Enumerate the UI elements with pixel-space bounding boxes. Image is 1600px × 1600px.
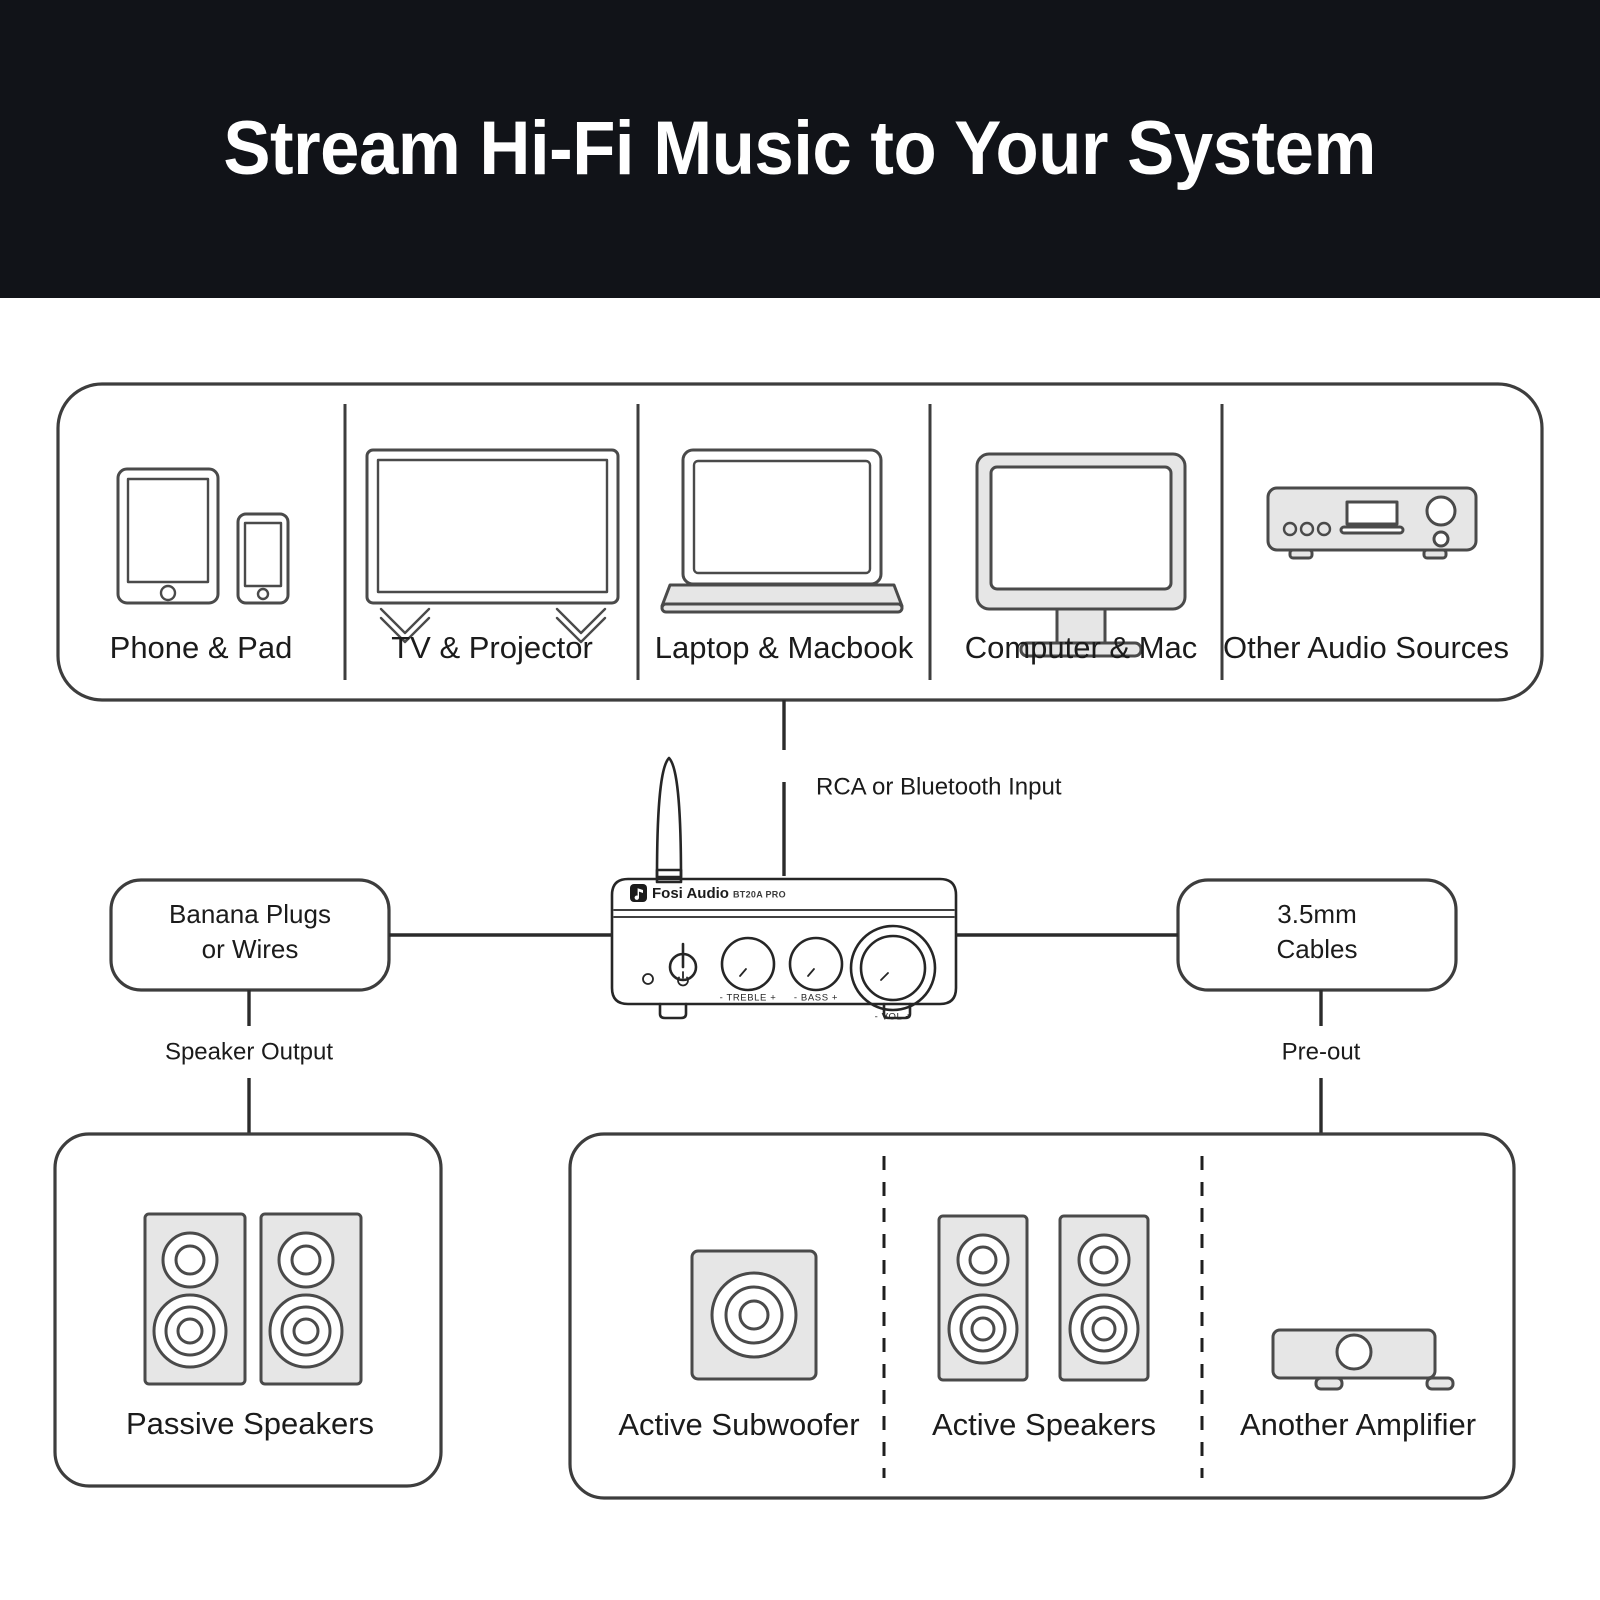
pre-out-label: Pre-out [1282, 1038, 1361, 1065]
signal-flow-diagram: Phone & Pad TV & Projector [0, 298, 1600, 1600]
source-cell-active-speakers[interactable]: Active Speakers [932, 1216, 1156, 1442]
infographic-page: Stream Hi-Fi Music to Your System [0, 0, 1600, 1600]
television-icon [367, 450, 618, 642]
amplifier-model-text: BT20A PRO [733, 889, 786, 899]
power-button-icon[interactable] [670, 944, 696, 985]
amplifier-box-icon [1273, 1330, 1453, 1389]
header-band: Stream Hi-Fi Music to Your System [0, 0, 1600, 298]
audio-sources-panel: Phone & Pad TV & Projector [58, 384, 1542, 700]
source-cell-laptop[interactable]: Laptop & Macbook [655, 450, 914, 665]
active-devices-panel: Active Subwoofer [570, 1134, 1514, 1498]
tablet-and-phone-icon [118, 469, 288, 603]
cd-player-icon [1268, 488, 1476, 558]
cables-box-line2: Cables [1277, 934, 1358, 964]
source-cell-passive-speakers[interactable]: Passive Speakers [126, 1214, 374, 1441]
source-cell-another-amplifier[interactable]: Another Amplifier [1240, 1330, 1476, 1442]
bass-knob[interactable]: - BASS + [790, 938, 842, 1004]
volume-knob-label: - VOL + [875, 1012, 912, 1023]
left-branch: Banana Plugs or Wires Speaker Output [55, 880, 612, 1486]
speaker-output-label: Speaker Output [165, 1038, 333, 1065]
source-label-other-audio-sources: Other Audio Sources [1223, 630, 1509, 665]
banana-plugs-box-line2: or Wires [202, 934, 299, 964]
bass-knob-label: - BASS + [794, 993, 838, 1004]
source-cell-tv-and-projector[interactable]: TV & Projector [367, 450, 618, 665]
active-speaker-pair-icon [939, 1216, 1148, 1380]
source-label-computer: Computer & Mac [965, 630, 1198, 665]
source-label-laptop: Laptop & Macbook [655, 630, 914, 665]
active-subwoofer-label: Active Subwoofer [618, 1407, 859, 1442]
active-speakers-label: Active Speakers [932, 1407, 1156, 1442]
desktop-monitor-icon [977, 454, 1185, 656]
source-label-phone-and-pad: Phone & Pad [110, 630, 293, 665]
banana-plugs-box-line1: Banana Plugs [169, 899, 331, 929]
source-label-tv-and-projector: TV & Projector [391, 630, 593, 665]
right-branch: 3.5mm Cables Pre-out Active [570, 880, 1514, 1498]
treble-knob[interactable]: - TREBLE + [720, 938, 777, 1004]
another-amplifier-label: Another Amplifier [1240, 1407, 1476, 1442]
subwoofer-icon [692, 1251, 816, 1379]
input-connector-label: RCA or Bluetooth Input [816, 773, 1062, 800]
led-indicator-icon [643, 974, 653, 984]
source-cell-other-audio-sources[interactable]: Other Audio Sources [1223, 488, 1509, 665]
treble-knob-label: - TREBLE + [720, 993, 777, 1004]
source-cell-computer[interactable]: Computer & Mac [965, 454, 1198, 665]
music-note-badge-icon [630, 884, 647, 902]
antenna-icon [657, 758, 681, 882]
page-title: Stream Hi-Fi Music to Your System [224, 111, 1376, 187]
source-cell-active-subwoofer[interactable]: Active Subwoofer [618, 1251, 859, 1442]
passive-speakers-panel: Passive Speakers [55, 1134, 441, 1486]
amplifier-brand-text: Fosi Audio [652, 885, 729, 902]
speaker-pair-icon [145, 1214, 361, 1384]
input-connector: RCA or Bluetooth Input [784, 700, 1062, 876]
amplifier-foot-left [660, 1004, 686, 1018]
source-cell-phone-and-pad[interactable]: Phone & Pad [110, 469, 293, 665]
cables-box-line1: 3.5mm [1277, 899, 1356, 929]
laptop-icon [662, 450, 902, 612]
volume-knob[interactable]: - VOL + [851, 926, 935, 1023]
passive-speakers-label: Passive Speakers [126, 1406, 374, 1441]
